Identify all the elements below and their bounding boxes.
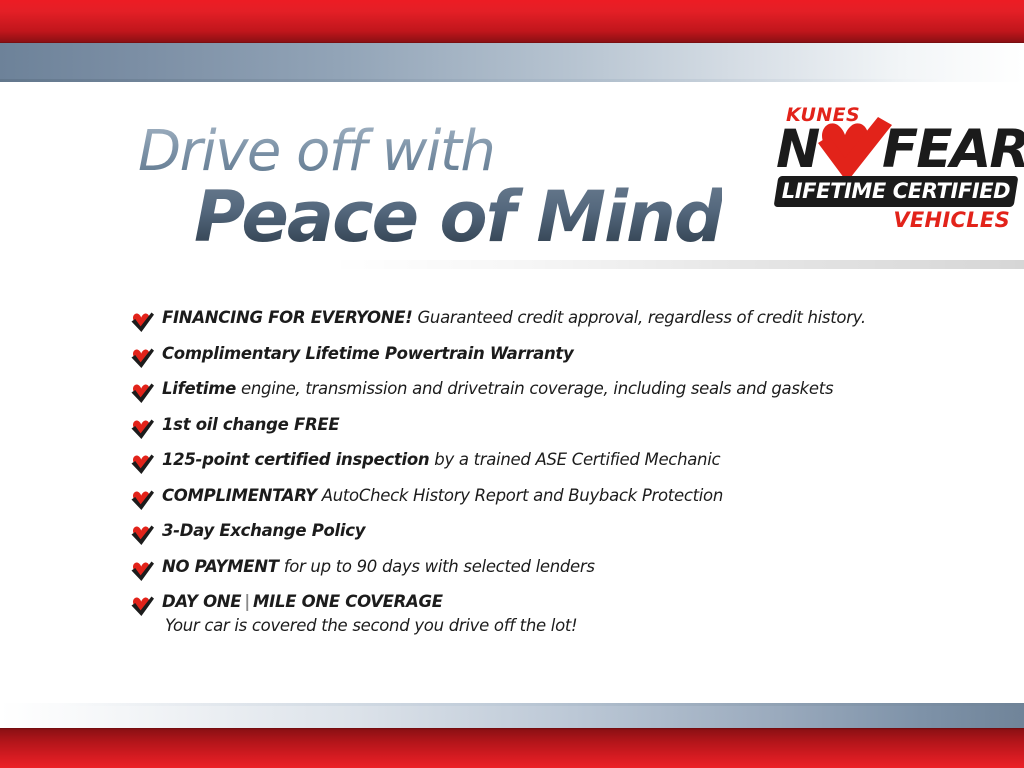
list-item-lead: 3-Day Exchange Policy [162,521,365,540]
list-item-text: Complimentary Lifetime Powertrain Warran… [162,344,573,364]
top-gray-band [0,43,1024,82]
list-item-lead: Lifetime [162,379,236,398]
heart-check-bullet-icon [130,311,155,333]
list-item-text: 3-Day Exchange Policy [162,521,365,541]
list-item: NO PAYMENT for up to 90 days with select… [130,557,970,582]
header-section: Drive off with Peace of Mind KUNES N FEA… [0,82,1024,267]
day-one-label: DAY ONE [162,592,241,611]
list-item-text: Lifetime engine, transmission and drivet… [162,379,833,399]
heart-check-bullet-icon [130,524,155,546]
list-item: 125-point certified inspection by a trai… [130,450,970,475]
list-item-lead: FINANCING FOR EVERYONE! [162,308,413,327]
list-item-lead: COMPLIMENTARY [162,486,317,505]
list-item: Lifetime engine, transmission and drivet… [130,379,970,404]
list-item-rest: for up to 90 days with selected lenders [279,557,595,576]
list-item-text: DAY ONE|MILE ONE COVERAGE [162,592,443,611]
heart-check-bullet-icon [130,453,155,475]
page-title: Drive off with Peace of Mind [138,124,722,252]
kunes-no-fear-logo: KUNES N FEAR LIFETIME CERTIFIED VEHICLES [772,104,1016,239]
logo-lifetime-certified-text: LIFETIME CERTIFIED [776,176,1016,207]
list-item-rest: engine, transmission and drivetrain cove… [236,379,833,398]
heart-check-bullet-icon [130,489,155,511]
list-item-lead: 1st oil change FREE [162,415,339,434]
list-item-text: 125-point certified inspection by a trai… [162,450,720,470]
list-item-text: 1st oil change FREE [162,415,339,435]
bottom-red-band [0,728,1024,768]
list-item-text: COMPLIMENTARY AutoCheck History Report a… [162,486,723,506]
list-item: Complimentary Lifetime Powertrain Warran… [130,344,970,369]
list-item: FINANCING FOR EVERYONE! Guaranteed credi… [130,308,970,333]
advertisement-page: Drive off with Peace of Mind KUNES N FEA… [0,0,1024,768]
list-item-lead: Complimentary Lifetime Powertrain Warran… [162,344,573,363]
list-item-text: FINANCING FOR EVERYONE! Guaranteed credi… [162,308,866,328]
benefits-list: FINANCING FOR EVERYONE! Guaranteed credi… [130,308,970,646]
heart-check-bullet-icon [130,560,155,582]
logo-nofear-wordmark: N FEAR [776,122,1016,178]
heart-check-bullet-icon [130,347,155,369]
heart-check-bullet-icon [130,595,155,617]
list-item-rest: Guaranteed credit approval, regardless o… [413,308,866,327]
list-item-rest: by a trained ASE Certified Mechanic [429,450,720,469]
heart-check-bullet-icon [130,418,155,440]
bottom-gray-band [0,703,1024,728]
list-item-day-one: DAY ONE|MILE ONE COVERAGE Your car is co… [130,592,970,635]
headline-line-2: Peace of Mind [194,182,722,252]
list-item-text: NO PAYMENT for up to 90 days with select… [162,557,595,577]
logo-word-fear: FEAR [882,122,1024,178]
list-item: COMPLIMENTARY AutoCheck History Report a… [130,486,970,511]
list-item-lead: 125-point certified inspection [162,450,429,469]
headline-line-1: Drive off with [138,124,722,180]
mile-one-label: MILE ONE COVERAGE [253,592,443,611]
day-one-separator: | [241,592,253,611]
list-item-day-one-block: DAY ONE|MILE ONE COVERAGE Your car is co… [162,592,577,635]
day-one-subtext: Your car is covered the second you drive… [165,616,577,635]
header-divider-shadow [330,260,1024,269]
logo-word-vehicles: VEHICLES [893,208,1010,232]
list-item-lead: NO PAYMENT [162,557,279,576]
heart-check-bullet-icon [130,382,155,404]
top-red-band [0,0,1024,43]
list-item: 3-Day Exchange Policy [130,521,970,546]
list-item: 1st oil change FREE [130,415,970,440]
list-item-rest: AutoCheck History Report and Buyback Pro… [317,486,723,505]
